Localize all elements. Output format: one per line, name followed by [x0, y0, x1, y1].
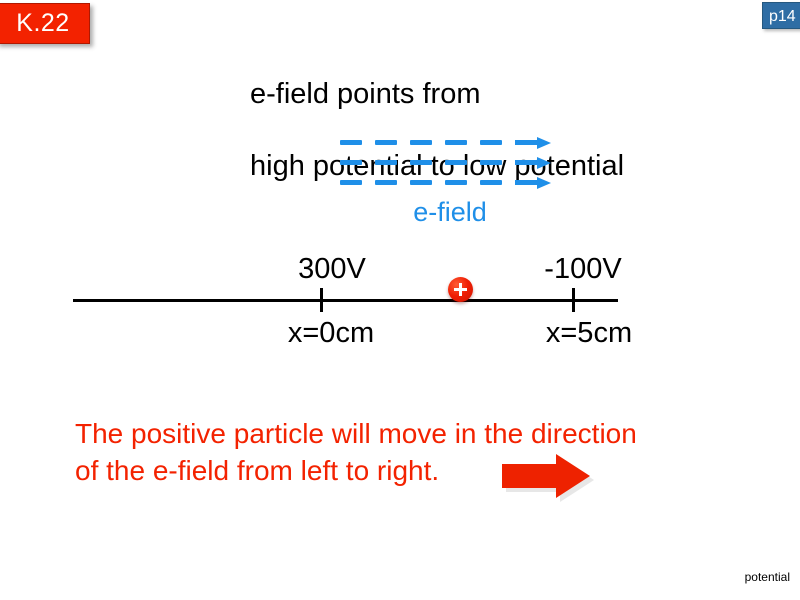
efield-diagram — [340, 132, 580, 200]
field-dash — [375, 160, 397, 165]
right-voltage-label: -100V — [498, 252, 668, 286]
field-dash — [410, 180, 432, 185]
left-voltage-label: 300V — [247, 252, 417, 286]
field-arrow-right-icon — [515, 157, 551, 168]
arrow-head — [537, 157, 551, 169]
field-dash — [375, 180, 397, 185]
page-number-badge: p14 — [762, 2, 800, 29]
field-dash — [340, 180, 362, 185]
right-position-label: x=5cm — [499, 316, 679, 350]
heading-line-1: e-field points from — [250, 76, 770, 112]
arrow-head — [537, 177, 551, 189]
slide-number-badge: K.22 — [0, 3, 90, 44]
field-line-row — [340, 138, 580, 146]
field-line-row — [340, 158, 580, 166]
field-arrow-right-icon — [515, 137, 551, 148]
field-dash — [375, 140, 397, 145]
conclusion-line-1: The positive particle will move in the d… — [75, 415, 735, 452]
field-dash — [480, 160, 502, 165]
field-dash — [340, 140, 362, 145]
plus-vertical-bar — [459, 283, 462, 296]
left-position-label: x=0cm — [241, 316, 421, 350]
conclusion-line-2: of the e-field from left to right. — [75, 452, 735, 489]
axis-tick-right — [572, 288, 575, 312]
field-dash — [340, 160, 362, 165]
arrow-head — [537, 137, 551, 149]
conclusion-text: The positive particle will move in the d… — [75, 415, 735, 489]
footer-note: potential — [700, 570, 790, 584]
field-dash — [445, 180, 467, 185]
field-dash — [410, 160, 432, 165]
efield-label: e-field — [380, 196, 520, 228]
field-arrow-right-icon — [515, 177, 551, 188]
field-dash — [480, 140, 502, 145]
slide-canvas: K.22 p14 e-field points from high potent… — [0, 0, 800, 600]
direction-block-arrow-icon — [498, 452, 594, 502]
field-dash — [445, 140, 467, 145]
positive-charge-icon — [448, 277, 473, 302]
field-dash — [410, 140, 432, 145]
field-line-row — [340, 178, 580, 186]
field-dash — [445, 160, 467, 165]
field-dash — [480, 180, 502, 185]
number-line-axis — [73, 299, 618, 302]
axis-tick-left — [320, 288, 323, 312]
